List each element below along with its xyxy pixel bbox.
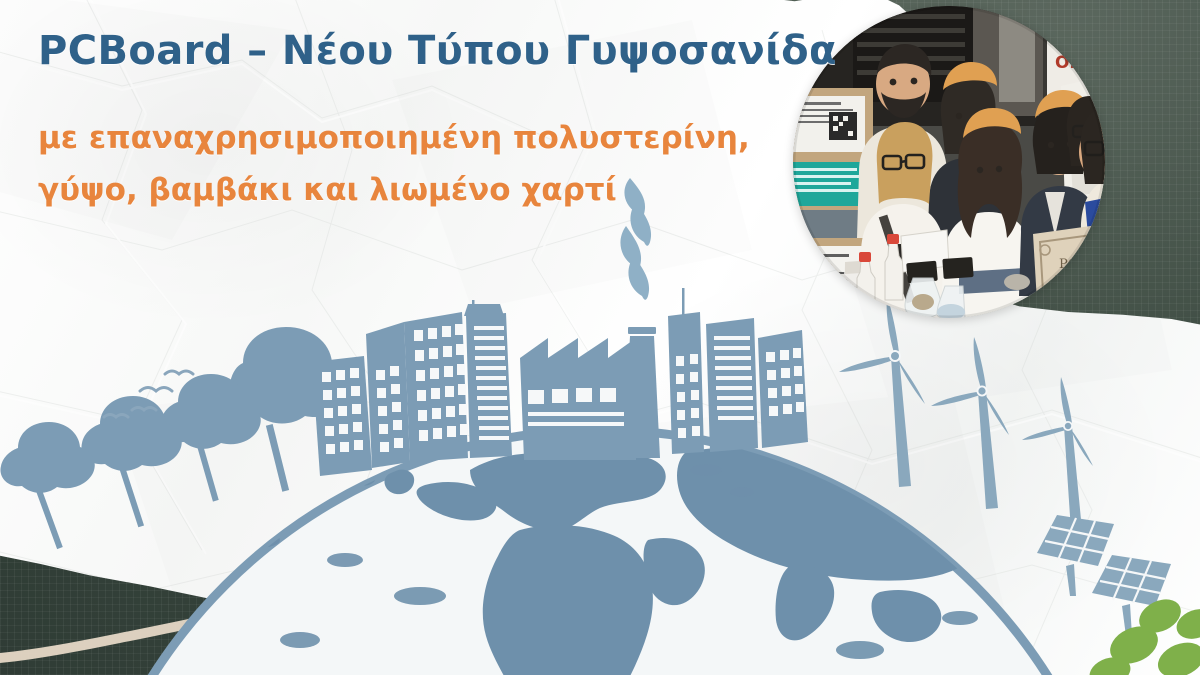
subtitle-line-1: με επαναχρησιμοποιημένη πολυστερίνη, — [38, 112, 750, 164]
team-photo-image: RD OFT — [793, 6, 1105, 318]
team-photo: RD OFT — [793, 6, 1105, 318]
page-subtitle: με επαναχρησιμοποιημένη πολυστερίνη, γύψ… — [38, 112, 750, 216]
subtitle-line-2: γύψο, βαμβάκι και λιωμένο χαρτί — [38, 164, 750, 216]
presentation-slide: RD OFT — [0, 0, 1200, 675]
page-title: PCBoard – Νέου Τύπου Γυψοσανίδα — [38, 28, 837, 74]
